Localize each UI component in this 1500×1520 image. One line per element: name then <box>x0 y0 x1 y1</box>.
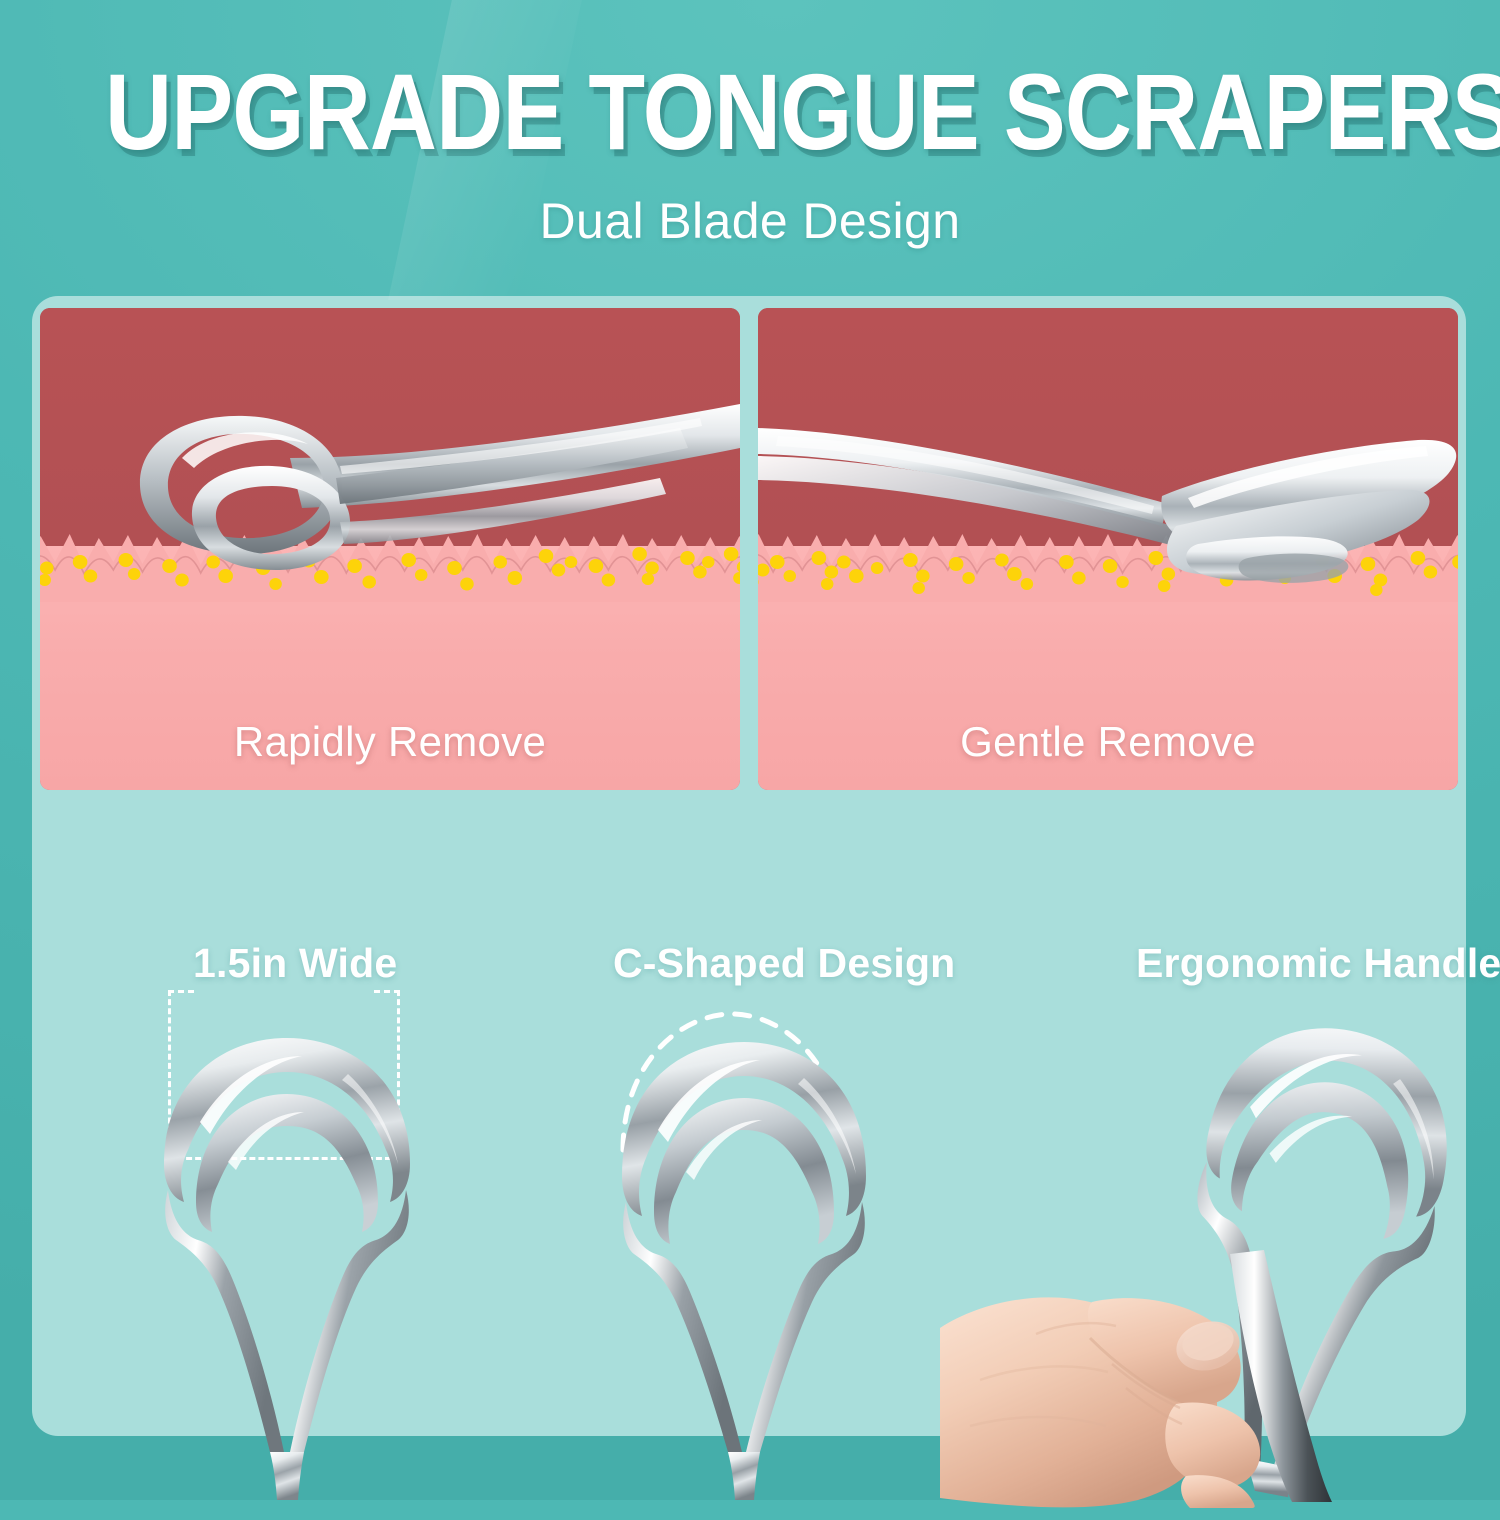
feature-label-width: 1.5in Wide <box>193 940 397 987</box>
scraper-product-cshape <box>612 1012 876 1500</box>
header: UPGRADE TONGUE SCRAPERS Dual Blade Desig… <box>0 0 1500 250</box>
feature-label-handle: Ergonomic Handle <box>1136 940 1500 987</box>
illustration-panel-rapidly-remove: Rapidly Remove <box>40 308 740 790</box>
bracket-tick-right <box>374 990 400 993</box>
hand-holding-scraper <box>940 1268 1460 1508</box>
bracket-tick-left <box>168 990 194 993</box>
illustration-panel-gentle-remove: Gentle Remove <box>758 308 1458 790</box>
scraper-product-width <box>152 1012 422 1500</box>
panel-caption-gentle-remove: Gentle Remove <box>758 718 1458 766</box>
infographic-canvas: UPGRADE TONGUE SCRAPERS Dual Blade Desig… <box>0 0 1500 1500</box>
panel-caption-rapidly-remove: Rapidly Remove <box>40 718 740 766</box>
feature-label-cshape: C-Shaped Design <box>613 940 955 987</box>
page-title: UPGRADE TONGUE SCRAPERS <box>105 0 1395 166</box>
page-subtitle: Dual Blade Design <box>0 166 1500 250</box>
illustration-row: Rapidly Remove <box>34 308 1464 790</box>
